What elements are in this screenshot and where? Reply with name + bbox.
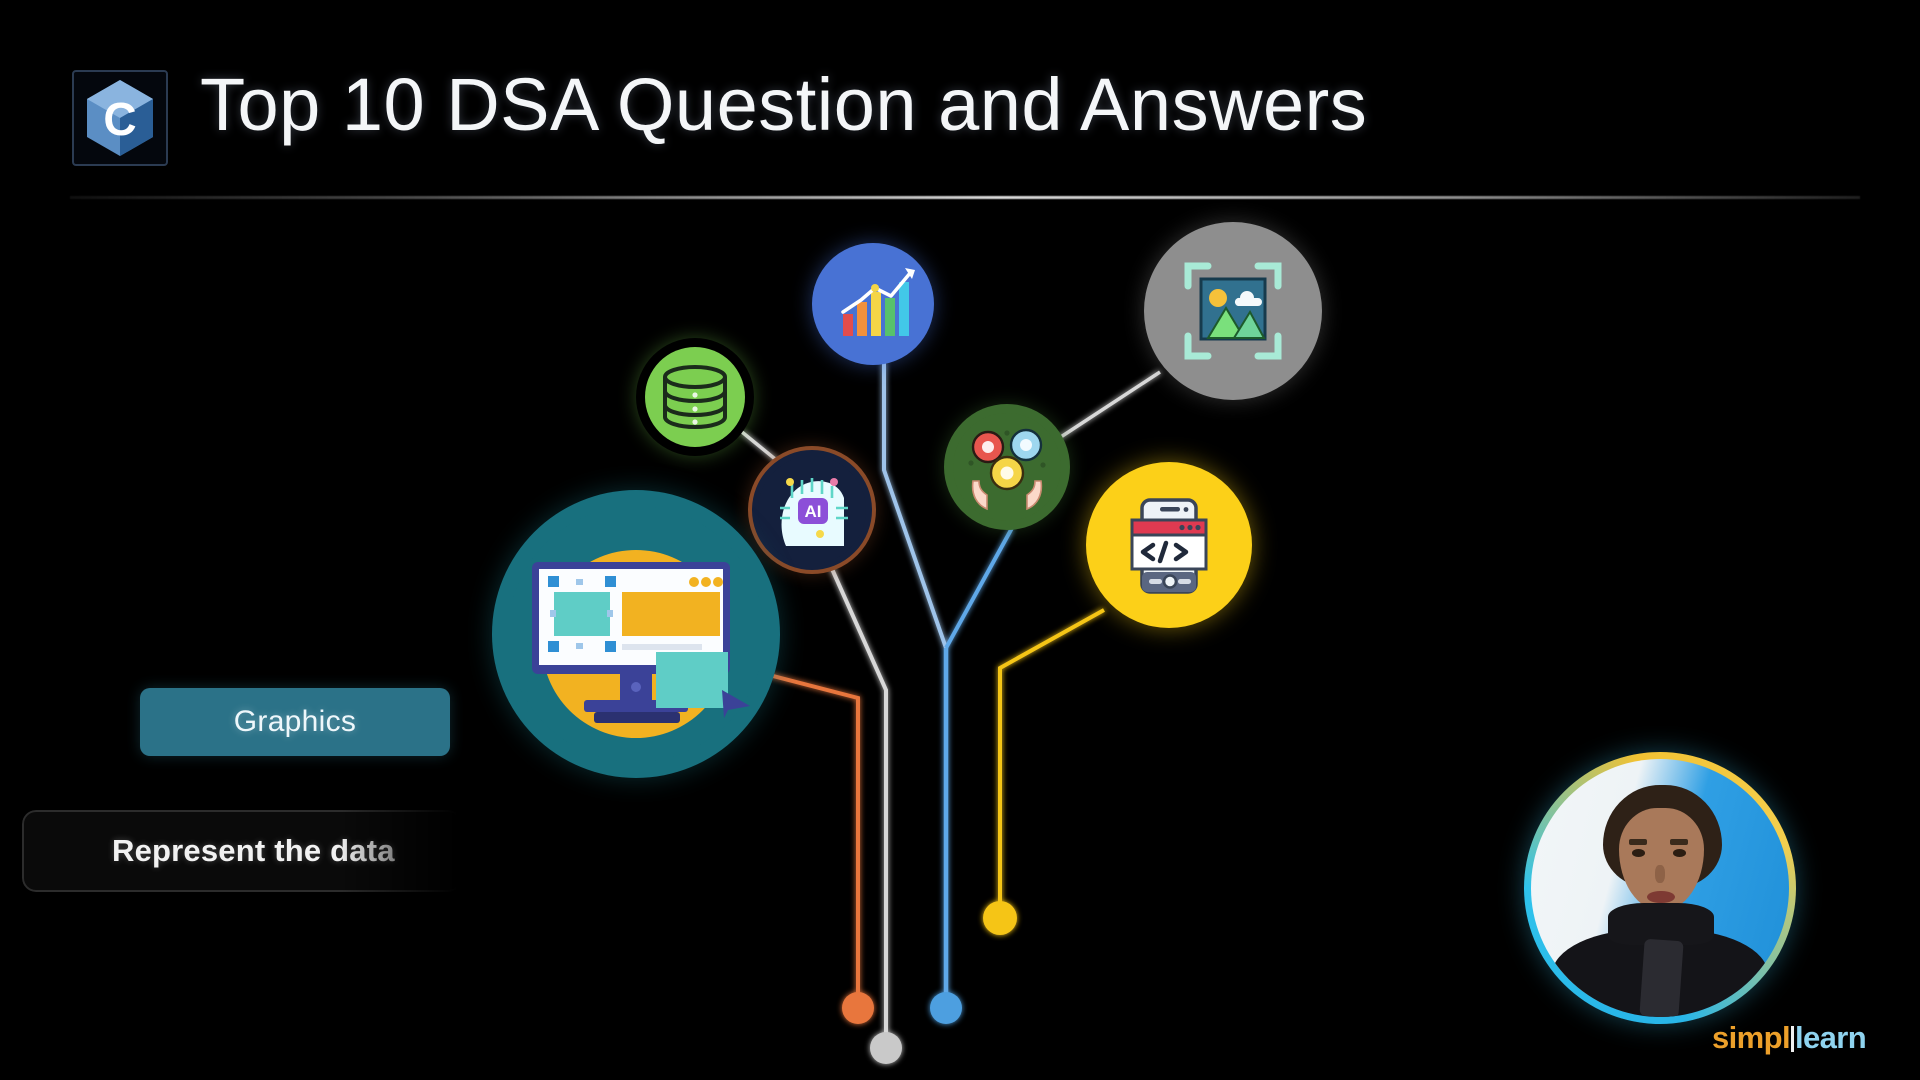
branch-endpoint-white [870, 1032, 902, 1064]
branch-endpoint-yellow [983, 901, 1017, 935]
presenter-video [1531, 759, 1789, 1017]
label-graphics-text: Graphics [234, 705, 356, 739]
simplilearn-logo: simpllearn [1712, 1020, 1866, 1056]
slide-canvas: C Top 10 DSA Question and Answers [0, 0, 1920, 1080]
presenter-lapel [1639, 938, 1683, 1017]
mobile-code-icon[interactable] [1086, 462, 1252, 628]
presenter-brow-right [1670, 839, 1688, 845]
label-graphics[interactable]: Graphics [140, 688, 450, 756]
graphic-design-monitor-icon[interactable] [492, 490, 780, 778]
brand-part-two: learn [1795, 1020, 1866, 1055]
branch-endpoint-blue [930, 992, 962, 1024]
svg-text:AI: AI [805, 502, 822, 521]
hands-gears-icon[interactable] [944, 404, 1070, 530]
ai-brain-chip-icon[interactable]: AI [748, 446, 876, 574]
database-icon[interactable] [636, 338, 754, 456]
label-represent-the-data[interactable]: Represent the data [22, 810, 462, 892]
presenter-nose [1655, 865, 1665, 883]
presenter-webcam[interactable] [1524, 752, 1796, 1024]
bar-chart-icon[interactable] [812, 243, 934, 365]
branch-white [828, 560, 902, 1064]
branch-endpoint-orange [842, 992, 874, 1024]
branch-orange [742, 668, 874, 1024]
presenter-scarf [1608, 903, 1714, 944]
label-represent-text: Represent the data [112, 833, 395, 869]
presenter-brow-left [1629, 839, 1647, 845]
branch-yellow [983, 610, 1104, 935]
brand-part-one: simpl [1712, 1020, 1790, 1055]
presenter-eye-left [1632, 849, 1645, 857]
image-frame-icon[interactable] [1144, 222, 1322, 400]
presenter-eye-right [1673, 849, 1686, 857]
brand-divider-bar [1791, 1026, 1794, 1052]
